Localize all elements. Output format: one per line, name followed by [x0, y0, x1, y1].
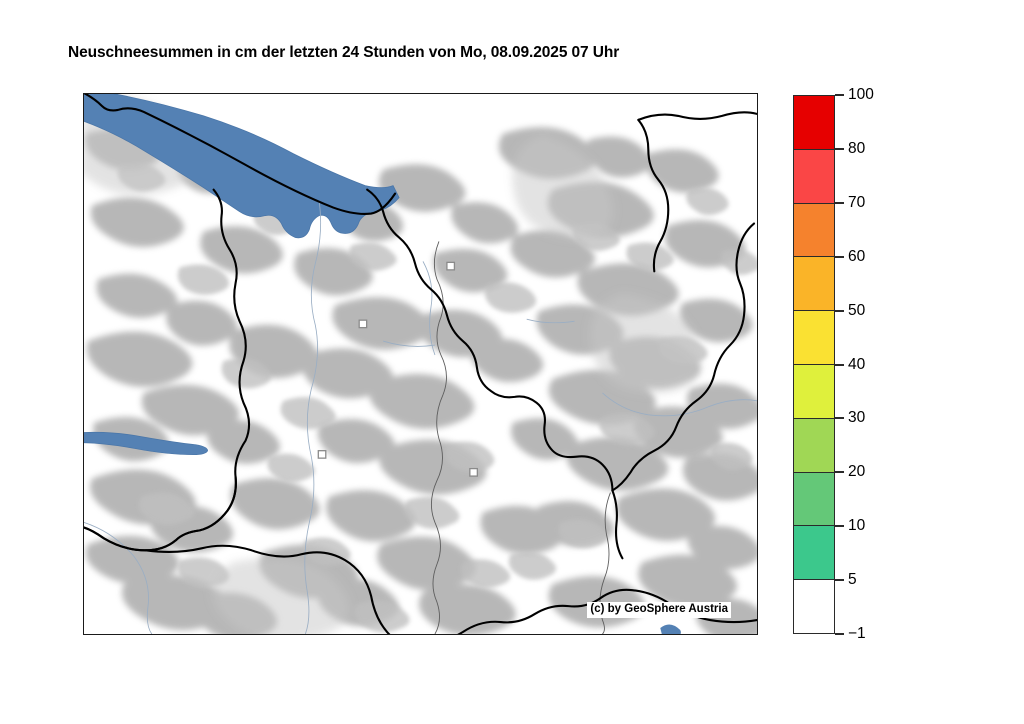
- colorbar-tickmark: [835, 471, 844, 473]
- colorbar-tick-label: 30: [848, 408, 865, 428]
- colorbar-tickmark: [835, 633, 844, 635]
- colorbar-tickmark: [835, 579, 844, 581]
- colorbar-band-7: [794, 473, 834, 527]
- colorbar-tickmark: [835, 417, 844, 419]
- colorbar-tickmark: [835, 148, 844, 150]
- page-title: Neuschneesummen in cm der letzten 24 Stu…: [68, 44, 619, 62]
- colorbar-tick-label: 10: [848, 516, 865, 536]
- map-canvas[interactable]: [84, 94, 757, 634]
- colorbar-band-3: [794, 257, 834, 311]
- colorbar-tick-label: 60: [848, 247, 865, 267]
- station-marker[interactable]: [318, 451, 325, 458]
- colorbar-ticks: 10080706050403020105−1: [835, 95, 895, 634]
- map-panel[interactable]: (c) by GeoSphere Austria: [83, 93, 758, 635]
- snow-map-figure: Neuschneesummen in cm der letzten 24 Stu…: [0, 0, 1024, 724]
- colorbar-tickmark: [835, 94, 844, 96]
- colorbar-band-6: [794, 419, 834, 473]
- station-marker[interactable]: [359, 320, 366, 327]
- colorbar[interactable]: 10080706050403020105−1: [793, 95, 835, 634]
- colorbar-tick-label: 80: [848, 139, 865, 159]
- colorbar-tick-label: 100: [848, 85, 874, 105]
- colorbar-tickmark: [835, 364, 844, 366]
- colorbar-tick-label: 70: [848, 193, 865, 213]
- colorbar-tick-label: 20: [848, 462, 865, 482]
- colorbar-band-0: [794, 96, 834, 150]
- colorbar-band-2: [794, 204, 834, 258]
- colorbar-tickmark: [835, 256, 844, 258]
- colorbar-bands[interactable]: [793, 95, 835, 634]
- colorbar-band-4: [794, 311, 834, 365]
- colorbar-band-8: [794, 526, 834, 580]
- colorbar-tickmark: [835, 525, 844, 527]
- colorbar-tick-label: −1: [848, 624, 866, 644]
- station-marker[interactable]: [470, 469, 477, 476]
- colorbar-tick-label: 5: [848, 570, 857, 590]
- colorbar-tick-label: 50: [848, 301, 865, 321]
- colorbar-band-1: [794, 150, 834, 204]
- colorbar-tick-label: 40: [848, 355, 865, 375]
- attribution-label: (c) by GeoSphere Austria: [587, 602, 731, 618]
- colorbar-tickmark: [835, 310, 844, 312]
- station-marker[interactable]: [447, 262, 454, 269]
- colorbar-band-5: [794, 365, 834, 419]
- colorbar-tickmark: [835, 202, 844, 204]
- colorbar-band-9: [794, 580, 834, 633]
